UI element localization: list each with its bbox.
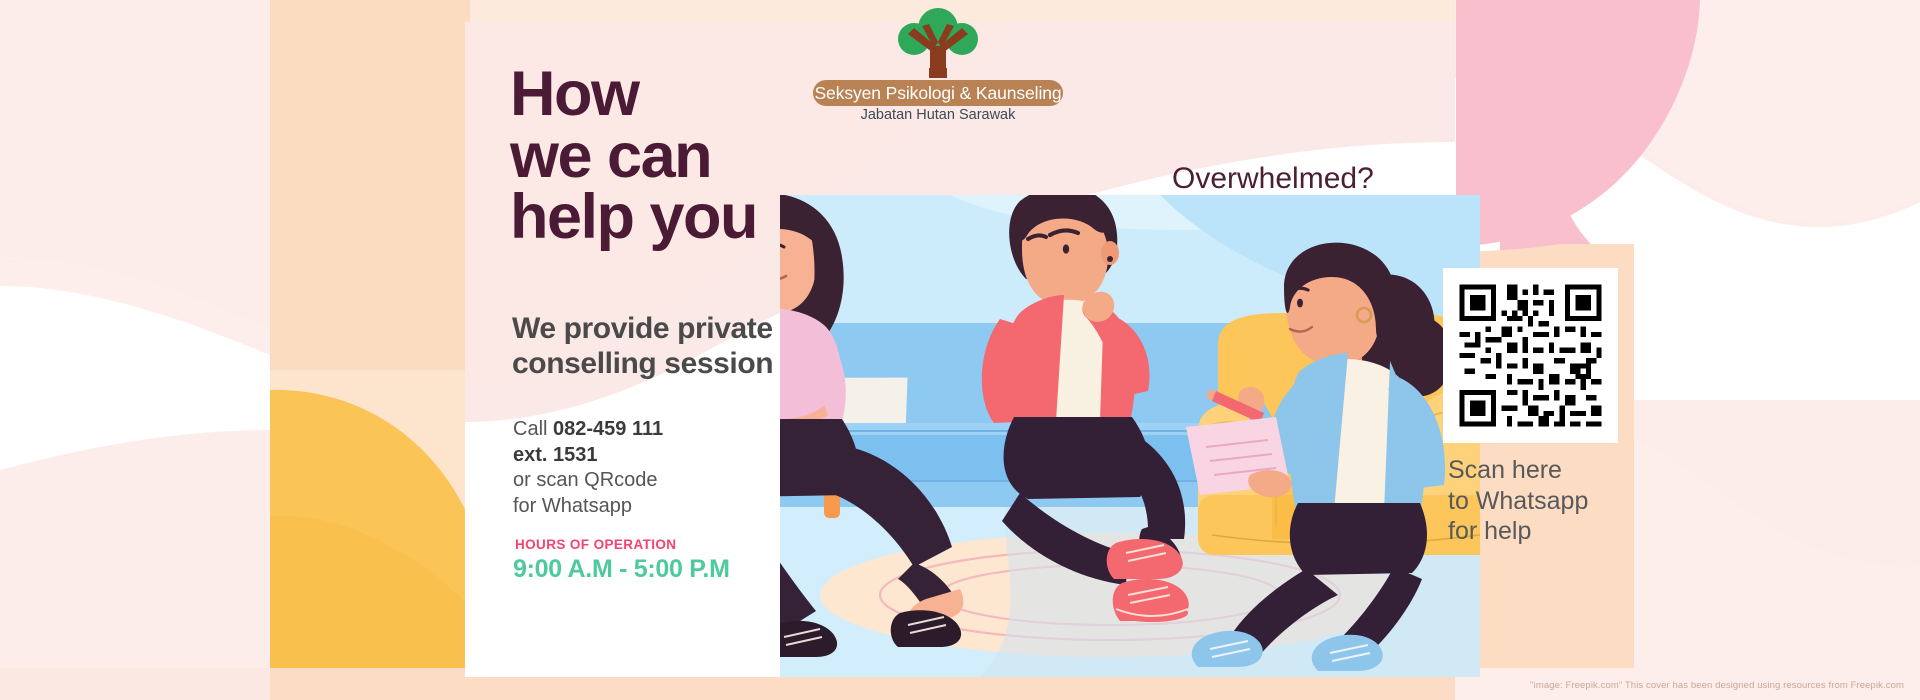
organization-logo: Seksyen Psikologi & Kaunseling Jabatan H… [813,8,1063,126]
poster-canvas: How we can help you We provide private c… [0,0,1920,700]
question-1: Overwhelmed? [1172,160,1374,197]
qr-instruction-text: Scan here to Whatsapp for help [1448,455,1668,547]
hours-value: 9:00 A.M - 5:00 P.M [513,555,730,584]
tree-icon [813,8,1063,83]
logo-subtitle: Jabatan Hutan Sarawak [813,107,1063,123]
qr-text-line-1: Scan here [1448,455,1668,486]
qr-code-panel[interactable] [1443,268,1618,443]
image-credit: "image: Freepik.com" This cover has been… [1530,680,1904,691]
qr-text-line-3: for help [1448,516,1668,547]
qr-text-line-2: to Whatsapp [1448,486,1668,517]
illustration-scene [780,195,1480,677]
call-prefix: Call [513,418,553,440]
hours-label: HOURS OF OPERATION [515,537,676,552]
headline-line-1: How [510,64,860,126]
phone-extension: ext. 1531 [513,444,598,466]
logo-title: Seksyen Psikologi & Kaunseling [813,80,1063,106]
qr-code-image[interactable] [1454,279,1607,432]
phone-number[interactable]: 082-459 111 [553,418,663,440]
headline-line-2: we can [510,126,860,188]
counselling-illustration [780,195,1480,677]
